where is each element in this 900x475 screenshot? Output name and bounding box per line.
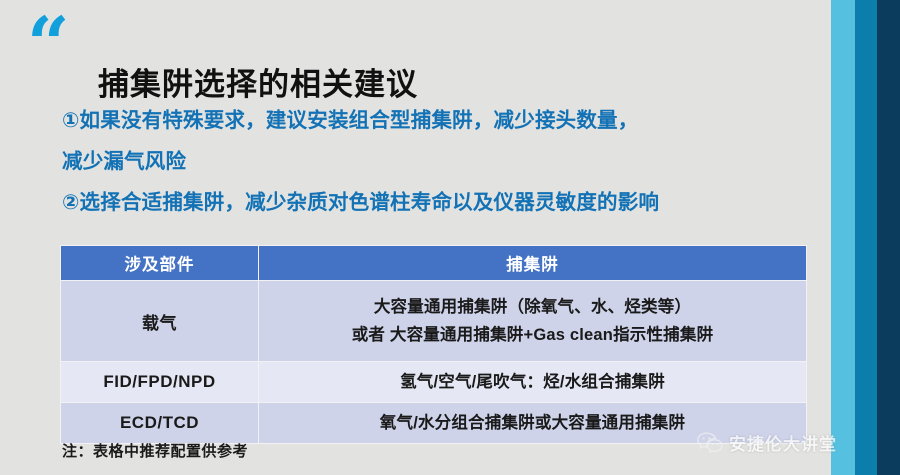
trap-line: 大容量通用捕集阱（除氧气、水、烃类等） — [260, 293, 805, 321]
body-line-3: ②选择合适捕集阱，减少杂质对色谱柱寿命以及仪器灵敏度的影响 — [62, 182, 822, 223]
decor-stripe-dark — [877, 0, 900, 475]
cell-part-carrier-gas: 载气 — [61, 281, 259, 362]
table-header-row: 涉及部件 捕集阱 — [61, 246, 807, 281]
cell-trap-carrier-gas: 大容量通用捕集阱（除氧气、水、烃类等） 或者 大容量通用捕集阱+Gas clea… — [259, 281, 807, 362]
table-body: 载气 大容量通用捕集阱（除氧气、水、烃类等） 或者 大容量通用捕集阱+Gas c… — [61, 281, 807, 444]
decor-stripe-light — [831, 0, 855, 475]
cell-trap-fid-fpd-npd: 氢气/空气/尾吹气：烃/水组合捕集阱 — [259, 362, 807, 403]
slide-canvas: “ 捕集阱选择的相关建议 ①如果没有特殊要求，建议安装组合型捕集阱，减少接头数量… — [0, 0, 900, 475]
table-head: 涉及部件 捕集阱 — [61, 246, 807, 281]
body-text-block: ①如果没有特殊要求，建议安装组合型捕集阱，减少接头数量， 减少漏气风险 ②选择合… — [62, 100, 822, 223]
recommendation-table-wrapper: 涉及部件 捕集阱 载气 大容量通用捕集阱（除氧气、水、烃类等） 或者 大容量通用… — [60, 245, 806, 444]
body-line-1: ①如果没有特殊要求，建议安装组合型捕集阱，减少接头数量， — [62, 100, 822, 141]
wechat-icon — [697, 432, 723, 454]
cell-part-ecd-tcd: ECD/TCD — [61, 403, 259, 444]
watermark-text: 安捷伦大讲堂 — [729, 430, 837, 455]
decor-stripe-mid — [855, 0, 877, 475]
column-header-part: 涉及部件 — [61, 246, 259, 281]
table-footnote: 注：表格中推荐配置供参考 — [62, 440, 248, 461]
cell-part-fid-fpd-npd: FID/FPD/NPD — [61, 362, 259, 403]
recommendation-table: 涉及部件 捕集阱 载气 大容量通用捕集阱（除氧气、水、烃类等） 或者 大容量通用… — [60, 245, 807, 444]
column-header-trap: 捕集阱 — [259, 246, 807, 281]
watermark: 安捷伦大讲堂 — [697, 430, 837, 455]
table-row: ECD/TCD 氧气/水分组合捕集阱或大容量通用捕集阱 — [61, 403, 807, 444]
table-row: 载气 大容量通用捕集阱（除氧气、水、烃类等） 或者 大容量通用捕集阱+Gas c… — [61, 281, 807, 362]
table-row: FID/FPD/NPD 氢气/空气/尾吹气：烃/水组合捕集阱 — [61, 362, 807, 403]
trap-line: 或者 大容量通用捕集阱+Gas clean指示性捕集阱 — [260, 321, 805, 349]
page-title: 捕集阱选择的相关建议 — [98, 59, 418, 104]
body-line-2: 减少漏气风险 — [62, 141, 822, 182]
quote-mark-icon: “ — [27, 8, 68, 82]
trap-line: 氢气/空气/尾吹气：烃/水组合捕集阱 — [260, 368, 805, 396]
